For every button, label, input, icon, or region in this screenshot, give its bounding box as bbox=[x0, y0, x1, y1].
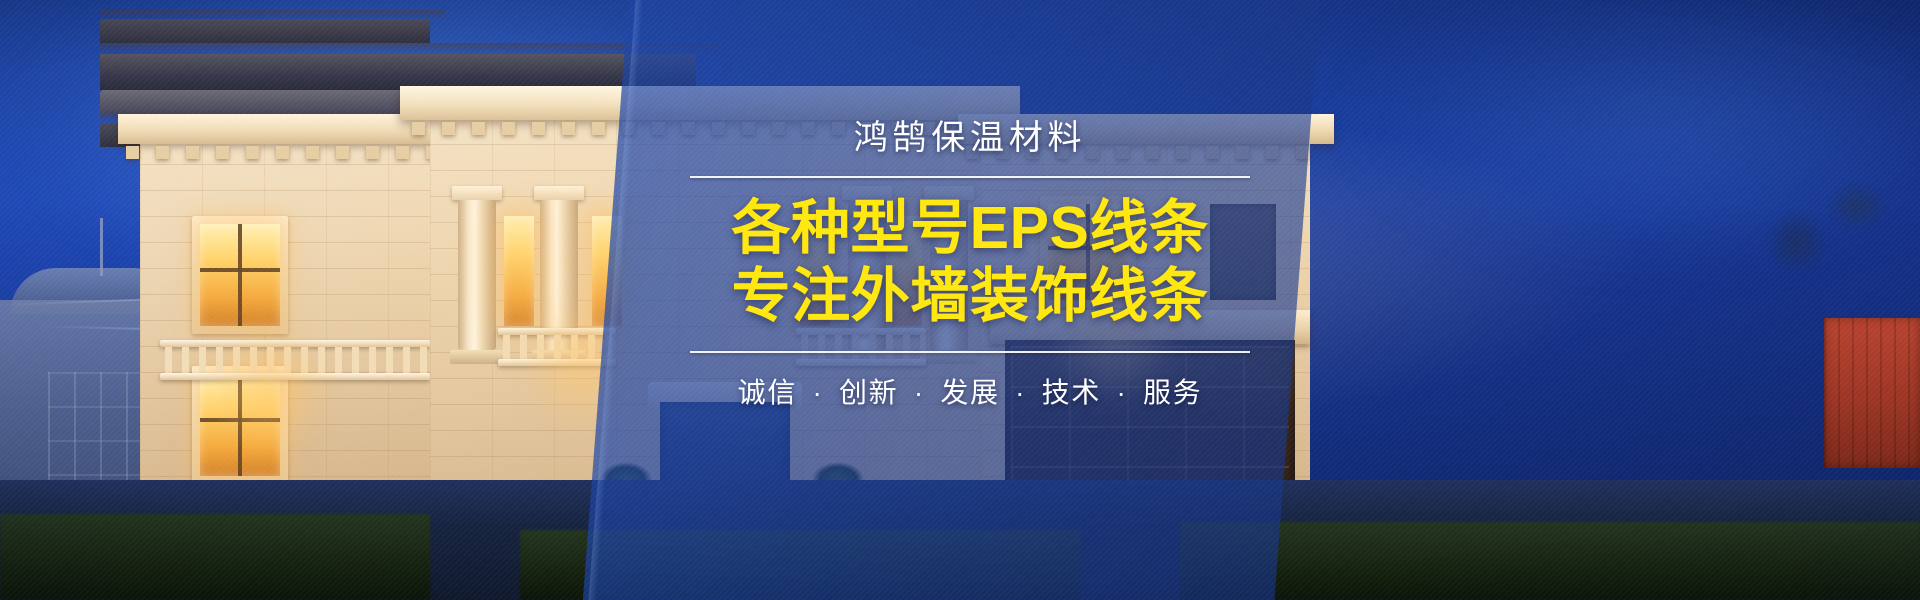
headline-line-1: 各种型号EPS线条 bbox=[690, 194, 1250, 262]
balustrade-posts bbox=[498, 335, 616, 359]
tagline-separator: · bbox=[1009, 377, 1032, 408]
hedge-right bbox=[1180, 522, 1920, 600]
balustrade-rail-top bbox=[498, 328, 616, 335]
tagline-separator: · bbox=[1110, 377, 1133, 408]
tagline-item-3: 技术 bbox=[1042, 377, 1101, 408]
balustrade-rail-top bbox=[160, 340, 430, 347]
center-eave-shadow bbox=[100, 43, 720, 54]
tagline-item-2: 发展 bbox=[940, 377, 999, 408]
balustrade-rail-bottom bbox=[498, 359, 616, 366]
lit-window bbox=[592, 216, 622, 326]
window-mullion-horizontal bbox=[200, 418, 280, 422]
portico-column bbox=[458, 200, 496, 350]
column-capital bbox=[452, 186, 502, 200]
column-capital bbox=[534, 186, 584, 200]
masonry-courses bbox=[140, 138, 440, 518]
left-wing-wall bbox=[140, 138, 440, 518]
hedge-center bbox=[520, 530, 1080, 600]
promotional-banner: 鸿鹄保温材料 各种型号EPS线条 专注外墙装饰线条 诚信 · 创新 · 发展 ·… bbox=[0, 0, 1920, 600]
left-wing-eave-shadow bbox=[100, 10, 446, 19]
balustrade-posts bbox=[160, 347, 430, 373]
tagline-item-4: 服务 bbox=[1143, 377, 1202, 408]
window-mullion-vertical bbox=[238, 224, 242, 326]
center-cornice bbox=[400, 86, 1020, 120]
window-mullion-horizontal bbox=[200, 268, 280, 272]
headline: 各种型号EPS线条 专注外墙装饰线条 bbox=[690, 194, 1250, 331]
tagline-separator: · bbox=[807, 377, 830, 408]
lit-window bbox=[200, 224, 280, 326]
lit-window bbox=[200, 374, 280, 476]
tagline-item-0: 诚信 bbox=[738, 377, 797, 408]
banner-text-block: 鸿鹄保温材料 各种型号EPS线条 专注外墙装饰线条 诚信 · 创新 · 发展 ·… bbox=[690, 118, 1250, 411]
balustrade-rail-bottom bbox=[160, 373, 430, 380]
left-wing-dentils bbox=[126, 146, 456, 159]
brand-subtitle: 鸿鹄保温材料 bbox=[690, 118, 1250, 159]
center-roof bbox=[100, 54, 696, 90]
divider-rule-top bbox=[690, 176, 1250, 178]
divider-rule-bottom bbox=[690, 351, 1250, 353]
tagline: 诚信 · 创新 · 发展 · 技术 · 服务 bbox=[690, 371, 1250, 411]
tagline-item-1: 创新 bbox=[839, 377, 898, 408]
hedge-left bbox=[0, 514, 430, 600]
lit-window bbox=[504, 216, 534, 326]
left-wing-roof bbox=[100, 19, 430, 43]
column-base bbox=[450, 350, 504, 364]
tagline-separator: · bbox=[908, 377, 931, 408]
headline-line-2: 专注外墙装饰线条 bbox=[690, 262, 1250, 330]
window-mullion-vertical bbox=[238, 374, 242, 476]
